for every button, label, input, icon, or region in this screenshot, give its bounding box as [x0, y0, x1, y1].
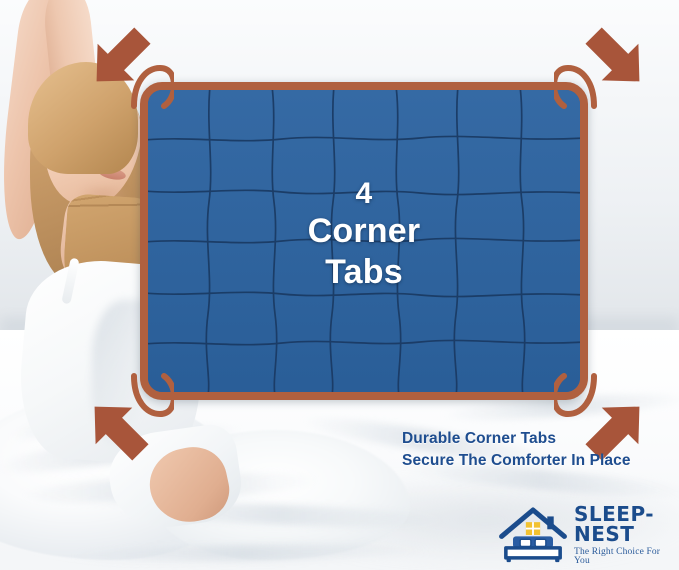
logo-brand-dash: - [645, 502, 654, 526]
logo-wordmark: SLEEP-NEST The Right Choice For You [574, 504, 672, 567]
arrow-top-right-icon [580, 22, 652, 94]
arrow-bottom-left-icon [82, 394, 154, 466]
caption-line-1: Durable Corner Tabs [402, 428, 631, 450]
arrow-top-left-icon [84, 22, 156, 94]
comforter-label-line-1: 4 [148, 176, 580, 211]
comforter-label-line-2: Corner [148, 211, 580, 251]
comforter-overlay-text: 4 Corner Tabs [148, 176, 580, 292]
caption-line-2: Secure The Comforter In Place [402, 450, 631, 472]
product-image-scene: 4 Corner Tabs [0, 0, 679, 570]
brand-logo: SLEEP-NEST The Right Choice For You [496, 504, 672, 566]
feature-caption: Durable Corner Tabs Secure The Comforter… [402, 428, 631, 472]
house-with-bed-icon [496, 505, 570, 565]
comforter-illustration: 4 Corner Tabs [140, 82, 588, 400]
comforter-body: 4 Corner Tabs [140, 82, 588, 400]
logo-brand-name: SLEEP-NEST [574, 504, 672, 544]
logo-brand-second: NEST [574, 522, 634, 546]
logo-tagline: The Right Choice For You [574, 548, 672, 567]
comforter-label-line-3: Tabs [148, 252, 580, 292]
